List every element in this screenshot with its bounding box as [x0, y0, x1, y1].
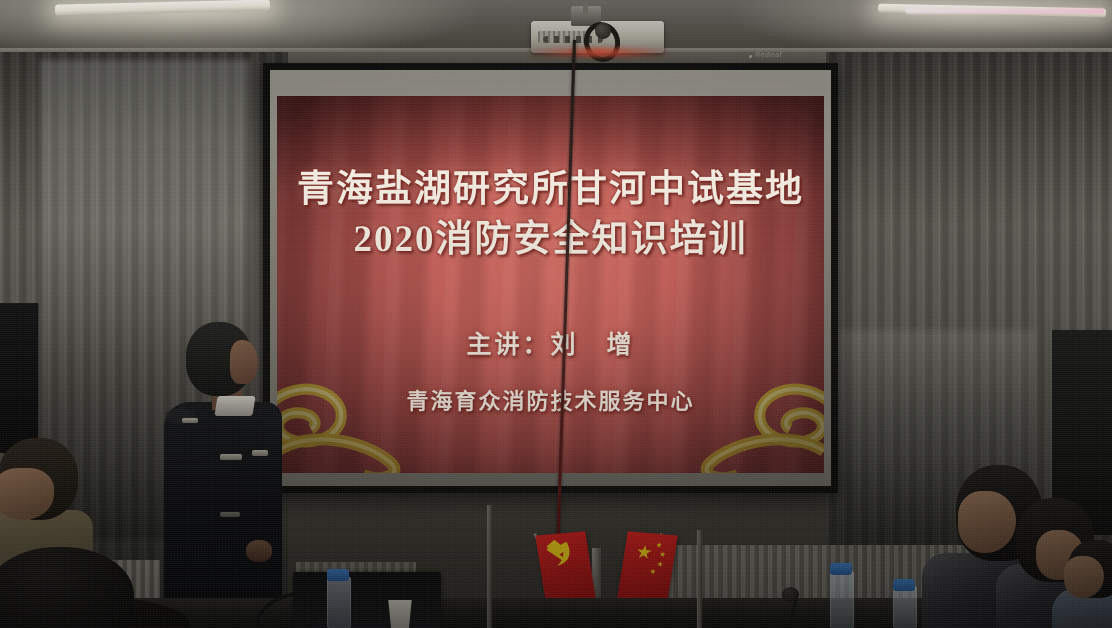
bottle-cap: [893, 579, 915, 591]
uniform-name-tag: [252, 450, 268, 456]
stand-pole-left: [487, 505, 492, 628]
presenter-face: [230, 340, 258, 384]
screen-brand-label: Redleaf: [755, 52, 782, 59]
attendee-right-3: [1062, 540, 1112, 628]
projector-mount-arm: [583, 0, 588, 14]
slide-title-line-2: 2020消防安全知识培训: [277, 208, 824, 262]
presenter-hands: [246, 540, 272, 562]
uniform-chest-badge: [220, 454, 242, 460]
wall-display-panel: [0, 303, 39, 453]
bottle-cap: [327, 569, 349, 581]
flag-star-large-icon: [636, 544, 653, 560]
flag-star-small-icon: [649, 568, 656, 574]
slide-title-line-1: 青海盐湖研究所甘河中试基地: [277, 158, 824, 212]
screen-brand-dot-icon: [749, 55, 752, 58]
flag-star-small-icon: [656, 542, 663, 548]
water-bottle: [830, 570, 854, 628]
stand-pole-right: [697, 530, 702, 628]
slide-organization: 青海育众消防技术服务中心: [277, 384, 824, 416]
slide-speaker: 主讲：刘 增: [277, 325, 824, 361]
projector-lens: [595, 23, 611, 39]
projector-status-glow: [527, 48, 672, 57]
presenter-collar: [214, 396, 255, 416]
microphone-head: [782, 587, 799, 602]
uniform-belt-detail: [220, 512, 240, 517]
presenter-person: [160, 322, 282, 628]
flag-star-small-icon: [659, 551, 666, 557]
fluorescent-light-right-glow: [905, 8, 1105, 14]
flag-star-small-icon: [657, 561, 664, 567]
photo-scene: Redleaf 青海盐湖研究所甘河中试基地 2020消防安全知识培训 主讲：刘 …: [0, 0, 1112, 628]
bottle-cap: [830, 563, 852, 575]
water-bottle: [893, 585, 917, 628]
presentation-slide: 青海盐湖研究所甘河中试基地 2020消防安全知识培训 主讲：刘 增 青海育众消防…: [277, 96, 824, 473]
water-bottle: [327, 576, 351, 628]
uniform-shoulder-badge: [182, 418, 198, 423]
slide-text-block: 青海盐湖研究所甘河中试基地 2020消防安全知识培训 主讲：刘 增 青海育众消防…: [277, 96, 824, 473]
